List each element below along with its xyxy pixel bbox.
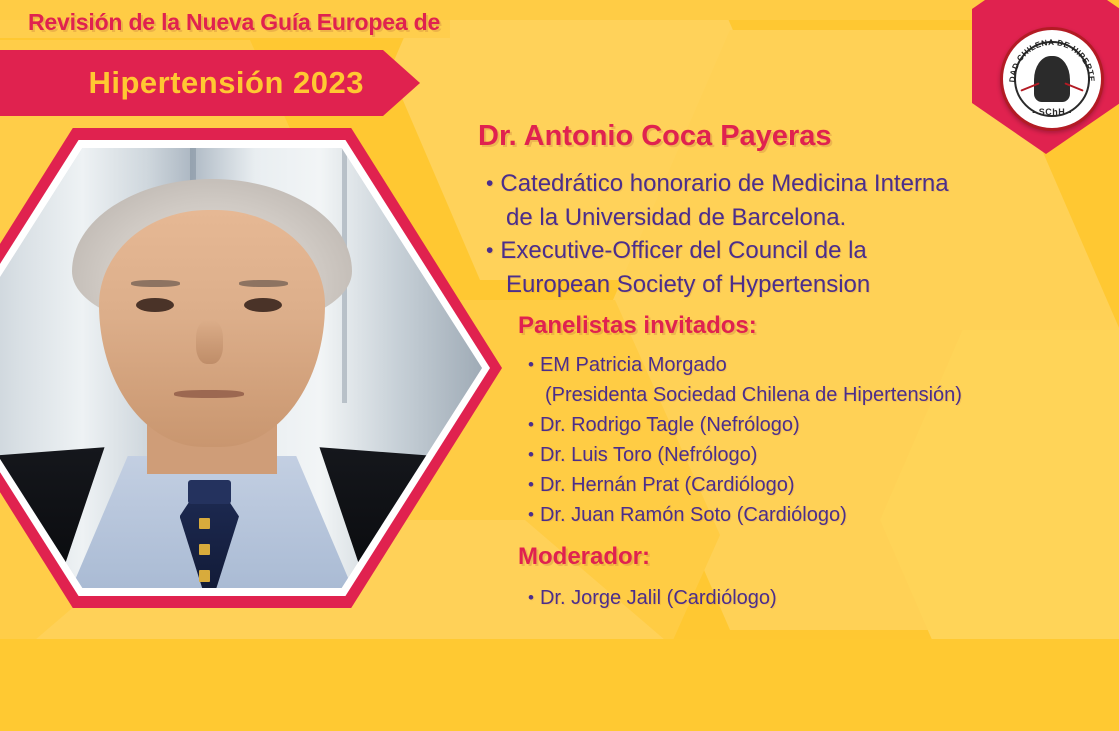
bullet-icon: •	[528, 500, 534, 530]
portrait-necktie-knot	[188, 480, 231, 504]
credential-line: European Society of Hypertension	[486, 268, 1086, 301]
credential-line: de la Universidad de Barcelona.	[486, 201, 1086, 234]
list-item: • EM Patricia Morgado (Presidenta Socied…	[528, 350, 1088, 410]
panelist-subtitle: (Presidenta Sociedad Chilena de Hiperten…	[528, 380, 1088, 410]
list-item: • Dr. Juan Ramón Soto (Cardiólogo)	[528, 500, 1088, 530]
bullet-icon: •	[486, 234, 493, 267]
list-item: • Executive-Officer del Council de la Eu…	[486, 234, 1086, 301]
society-logo-seal: SOCIEDAD CHILENA DE HIPERTENSION - SChH …	[1000, 27, 1104, 131]
bullet-icon: •	[528, 470, 534, 500]
moderator-list: • Dr. Jorge Jalil (Cardiólogo)	[528, 583, 1088, 613]
speaker-name: Dr. Antonio Coca Payeras	[478, 120, 831, 153]
portrait-eyebrow	[131, 280, 180, 287]
bullet-icon: •	[486, 167, 493, 200]
poster-title-banner: Hipertensión 2023	[0, 50, 420, 116]
seal-figure-silhouette	[1034, 56, 1070, 102]
panelist-name: Dr. Rodrigo Tagle (Nefrólogo)	[540, 410, 800, 440]
speaker-photo-frame	[0, 128, 502, 608]
seal-acronym: - SChH -	[1003, 107, 1101, 117]
portrait-necktie-motif	[199, 518, 211, 529]
portrait-necktie-motif	[199, 544, 211, 555]
poster-kicker: Revisión de la Nueva Guía Europea de	[28, 9, 440, 36]
portrait-eye	[136, 298, 174, 312]
panelist-name: Dr. Luis Toro (Nefrólogo)	[540, 440, 758, 470]
poster-canvas: Revisión de la Nueva Guía Europea de Hip…	[0, 0, 1119, 731]
list-item: • Catedrático honorario de Medicina Inte…	[486, 167, 1086, 234]
bullet-icon: •	[528, 583, 534, 613]
portrait-necktie-motif	[199, 570, 211, 581]
panelist-name: Dr. Hernán Prat (Cardiólogo)	[540, 470, 795, 500]
panelists-heading: Panelistas invitados:	[518, 312, 757, 340]
page-title: Hipertensión 2023	[88, 65, 420, 101]
panelist-name: Dr. Juan Ramón Soto (Cardiólogo)	[540, 500, 847, 530]
bullet-icon: •	[528, 410, 534, 440]
portrait-eye	[244, 298, 282, 312]
list-item: • Dr. Rodrigo Tagle (Nefrólogo)	[528, 410, 1088, 440]
list-item: • Dr. Luis Toro (Nefrólogo)	[528, 440, 1088, 470]
panelist-name: EM Patricia Morgado	[540, 350, 727, 380]
bullet-icon: •	[528, 440, 534, 470]
credential-line: Executive-Officer del Council de la	[500, 234, 866, 267]
credential-line: Catedrático honorario de Medicina Intern…	[500, 167, 948, 200]
list-item: • Dr. Jorge Jalil (Cardiólogo)	[528, 583, 1088, 613]
speaker-credentials-list: • Catedrático honorario de Medicina Inte…	[486, 167, 1086, 301]
panelists-list: • EM Patricia Morgado (Presidenta Socied…	[528, 350, 1088, 530]
portrait-mouth	[174, 390, 244, 398]
portrait-nose	[196, 320, 223, 364]
background-bottom-band	[0, 639, 1119, 731]
moderator-name: Dr. Jorge Jalil (Cardiólogo)	[540, 583, 777, 613]
moderator-heading: Moderador:	[518, 543, 650, 571]
portrait-eyebrow	[239, 280, 288, 287]
bullet-icon: •	[528, 350, 534, 380]
list-item: • Dr. Hernán Prat (Cardiólogo)	[528, 470, 1088, 500]
speaker-portrait-image	[0, 148, 482, 588]
